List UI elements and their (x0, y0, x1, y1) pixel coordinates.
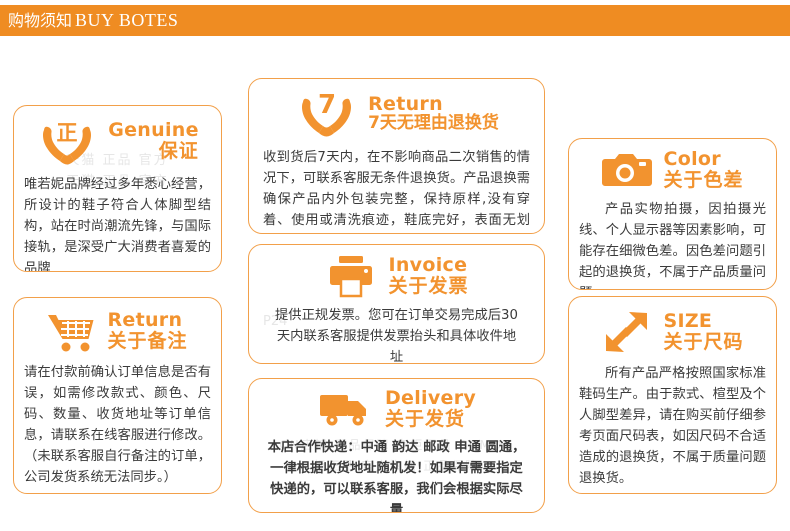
card-remark-title-cn: 关于备注 (107, 331, 187, 352)
page-header-banner: 购物须知BUY BOTES (0, 5, 790, 36)
card-size-titles: SIZE 关于尺码 (663, 311, 743, 352)
card-delivery-title-en: Delivery (385, 388, 476, 409)
card-color-body: 产品实物拍摄，因拍摄光线、个人显示器等因素影响，可能存在细微色差。因色差问题引起… (579, 199, 766, 290)
card-genuine-body: 唯若妮品牌经过多年悉心经营，所设计的鞋子符合人体脚型结构，站在时尚潮流先锋，与国… (24, 174, 211, 272)
card-genuine: 天猫 正品 官方 天猫 正品 官方 正 Genuine 保证 (13, 105, 222, 272)
card-return-header: 7 Return 7天无理由退换货 (259, 79, 534, 139)
card-return-titles: Return 7天无理由退换货 (368, 94, 499, 133)
card-genuine-header: 正 Genuine 保证 (24, 106, 211, 166)
info-cards-board: 天猫 正品 官方 天猫 正品 官方 正 Genuine 保证 (0, 36, 790, 531)
shopping-cart-icon (47, 310, 97, 352)
card-color-header: Color 关于色差 (579, 139, 766, 191)
page-title-cn: 购物须知 (8, 11, 72, 30)
camera-icon (601, 149, 653, 191)
card-size-body: 所有产品严格按照国家标准鞋码生产。由于款式、楦型及个人脚型差异，请在购买前仔细参… (579, 363, 766, 489)
resize-arrows-icon (601, 309, 653, 355)
card-remark-titles: Return 关于备注 (107, 310, 187, 351)
card-invoice-titles: Invoice 关于发票 (388, 255, 468, 296)
card-delivery-body: 本店合作快递：中通 韵达 邮政 申通 圆通，一律根据收货地址随机发！如果有需要指… (259, 437, 534, 513)
card-return: 7 Return 7天无理由退换货 收到货后7天内，在不影响商品二次销售的情况下… (248, 78, 545, 234)
card-invoice-title-cn: 关于发票 (388, 276, 468, 297)
hands-holding-zheng-icon: 正 (36, 116, 98, 166)
card-return-title-cn: 7天无理由退换货 (368, 114, 499, 132)
card-size: SIZE 关于尺码 所有产品严格按照国家标准鞋码生产。由于款式、楦型及个人脚型差… (568, 296, 777, 494)
card-genuine-title-en: Genuine (108, 120, 199, 141)
card-delivery: CN店铺 正品保障 专柜正品 CNMOR 柜正品 官方旗舰 正品保障 (248, 378, 545, 513)
card-remark: Return 关于备注 请在付款前确认订单信息是否有误，如需修改款式、颜色、尺码… (13, 297, 222, 494)
card-delivery-title-cn: 关于发货 (385, 409, 476, 430)
card-invoice: P24 Invoice 关于发票 (248, 244, 545, 364)
card-return-body: 收到货后7天内，在不影响商品二次销售的情况下，可联系客服无条件退换货。产品退换需… (259, 147, 534, 234)
svg-text:7: 7 (318, 90, 336, 120)
card-invoice-title-en: Invoice (388, 255, 468, 276)
card-size-title-cn: 关于尺码 (663, 332, 743, 353)
hands-holding-seven-icon: 7 (294, 87, 358, 139)
card-color-title-cn: 关于色差 (663, 170, 743, 191)
printer-icon (324, 253, 378, 299)
card-size-header: SIZE 关于尺码 (579, 297, 766, 355)
card-color: Color 关于色差 产品实物拍摄，因拍摄光线、个人显示器等因素影响，可能存在细… (568, 138, 777, 290)
card-invoice-header: Invoice 关于发票 (259, 245, 534, 299)
page-title: 购物须知BUY BOTES (0, 11, 178, 31)
delivery-truck-icon (317, 387, 375, 431)
card-invoice-body: 提供正规发票。您可在订单交易完成后30天内联系客服提供发票抬头和具体收件地址 (259, 305, 534, 364)
card-genuine-titles: Genuine 保证 (108, 120, 199, 161)
card-color-titles: Color 关于色差 (663, 149, 743, 190)
card-remark-body: 请在付款前确认订单信息是否有误，如需修改款式、颜色、尺码、数量、收货地址等订单信… (24, 362, 211, 488)
card-genuine-title-cn: 保证 (108, 141, 199, 162)
card-remark-header: Return 关于备注 (24, 298, 211, 352)
card-size-title-en: SIZE (663, 311, 743, 332)
card-color-title-en: Color (663, 149, 743, 170)
page-title-en: BUY BOTES (75, 10, 178, 30)
card-delivery-titles: Delivery 关于发货 (385, 388, 476, 429)
card-return-title-en: Return (368, 94, 499, 115)
card-remark-title-en: Return (107, 310, 187, 331)
card-delivery-header: Delivery 关于发货 (259, 379, 534, 431)
svg-text:正: 正 (57, 121, 78, 145)
